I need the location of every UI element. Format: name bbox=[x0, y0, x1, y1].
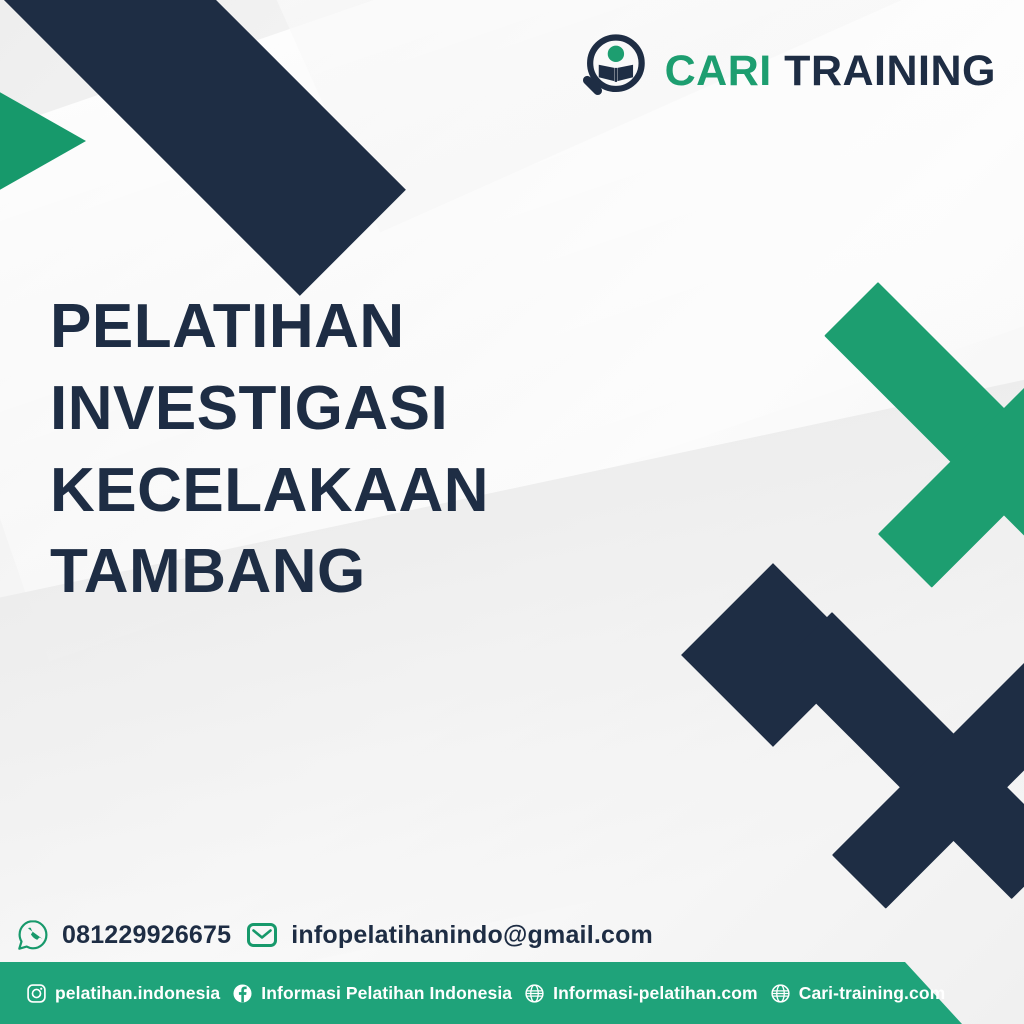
instagram-handle: pelatihan.indonesia bbox=[55, 983, 220, 1004]
top-left-green-triangle bbox=[0, 57, 86, 225]
title-line-4: TAMBANG bbox=[50, 531, 610, 613]
footer-item-website-1[interactable]: Informasi-pelatihan.com bbox=[524, 983, 758, 1004]
footer-bar: pelatihan.indonesia Informasi Pelatihan … bbox=[0, 962, 1024, 1024]
magnifier-book-icon bbox=[573, 32, 651, 110]
facebook-icon bbox=[232, 983, 253, 1004]
email-icon bbox=[245, 918, 279, 952]
facebook-page: Informasi Pelatihan Indonesia bbox=[261, 983, 512, 1004]
brand-logo[interactable]: CARI TRAINING bbox=[573, 32, 996, 110]
title-line-3: KECELAKAAN bbox=[50, 450, 610, 532]
brand-name-part1: CARI bbox=[665, 47, 772, 95]
globe-icon bbox=[524, 983, 545, 1004]
footer-item-website-2[interactable]: Cari-training.com bbox=[770, 983, 946, 1004]
footer-item-instagram[interactable]: pelatihan.indonesia bbox=[26, 983, 220, 1004]
footer-item-facebook[interactable]: Informasi Pelatihan Indonesia bbox=[232, 983, 512, 1004]
title-line-2: INVESTIGASI bbox=[50, 368, 610, 450]
page-title: PELATIHAN INVESTIGASI KECELAKAAN TAMBANG bbox=[50, 286, 610, 613]
brand-name-part2: TRAINING bbox=[784, 47, 996, 95]
footer-links: pelatihan.indonesia Informasi Pelatihan … bbox=[26, 962, 945, 1024]
whatsapp-icon bbox=[16, 918, 50, 952]
whatsapp-number: 081229926675 bbox=[62, 921, 231, 950]
contact-bar: 081229926675 infopelatihanindo@gmail.com bbox=[16, 912, 653, 958]
contact-item-whatsapp[interactable]: 081229926675 bbox=[16, 918, 231, 952]
website-2: Cari-training.com bbox=[799, 983, 946, 1004]
instagram-icon bbox=[26, 983, 47, 1004]
email-address: infopelatihanindo@gmail.com bbox=[291, 921, 653, 950]
globe-icon bbox=[770, 983, 791, 1004]
website-1: Informasi-pelatihan.com bbox=[553, 983, 758, 1004]
contact-item-email[interactable]: infopelatihanindo@gmail.com bbox=[245, 918, 653, 952]
poster-canvas: CARI TRAINING PELATIHAN INVESTIGASI KECE… bbox=[0, 0, 1024, 1024]
brand-name: CARI TRAINING bbox=[665, 50, 996, 93]
title-line-1: PELATIHAN bbox=[50, 286, 610, 368]
